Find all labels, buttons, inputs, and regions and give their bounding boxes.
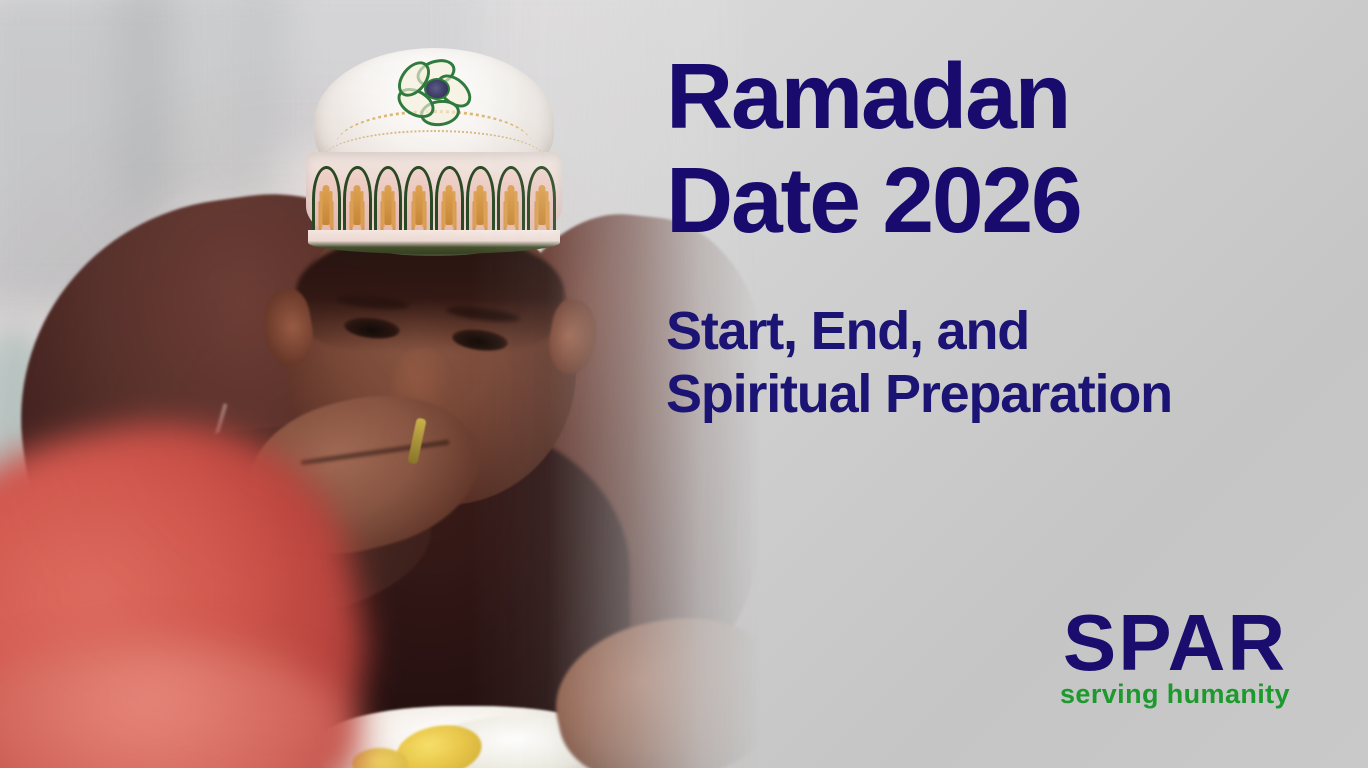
page-title: Ramadan Date 2026: [666, 44, 1326, 252]
logo-tagline: serving humanity: [1032, 680, 1318, 710]
subhead-line-1: Start, End, and: [666, 300, 1336, 363]
photo-color-tone: [0, 0, 760, 768]
spar-logo: SPAR serving humanity: [1032, 608, 1318, 710]
headline-line-1: Ramadan: [666, 44, 1326, 148]
page-subtitle: Start, End, and Spiritual Preparation: [666, 300, 1336, 426]
logo-wordmark: SPAR: [1032, 608, 1318, 678]
ramadan-promo-banner: Ramadan Date 2026 Start, End, and Spirit…: [0, 0, 1368, 768]
headline-line-2: Date 2026: [666, 148, 1326, 252]
subhead-line-2: Spiritual Preparation: [666, 363, 1336, 426]
hero-photo: [0, 0, 760, 768]
